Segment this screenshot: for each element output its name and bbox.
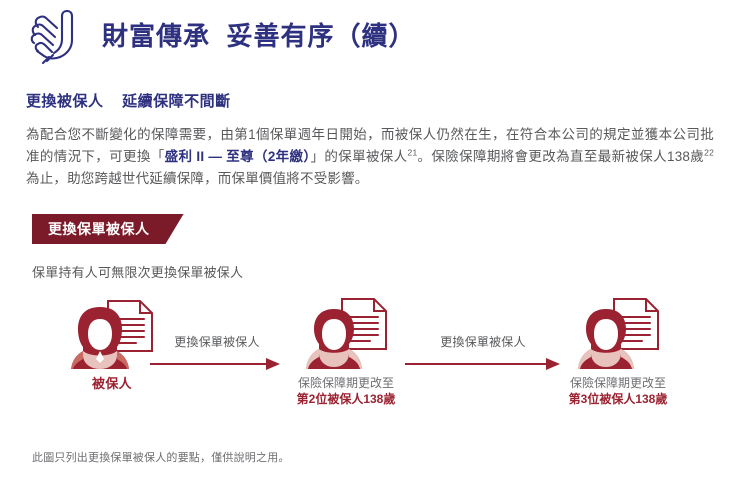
node-3-caption-line-2: 138歲 [635,392,667,406]
node-2-caption-emphasis: 第2位被保人 [297,392,364,406]
paragraph-part-3: 。保險保障期將會更改為直至最新被保人138歲 [417,149,704,164]
node-3-caption: 保險保障期更改至第3位被保人138歲 [528,375,708,407]
product-name: 盛利 II — 至尊（2年繳） [165,149,311,164]
node-3-caption-emphasis: 第3位被保人 [569,392,636,406]
footnote-ref-21: 21 [408,148,418,158]
section-subtitle: 更換被保人 延續保障不間斷 [26,90,740,111]
paragraph-part-2: 」的保單被保人 [311,149,408,164]
page-title: 財富傳承 妥善有序（續） [102,22,415,51]
paragraph-part-4: 為止，助您跨越世代延續保障，而保單價值將不受影響。 [26,171,369,186]
node-2-caption-line-1: 保險保障期更改至 [298,376,394,390]
footnote-ref-22: 22 [704,148,714,158]
section-banner-wrapper: 更換保單被保人 [32,214,740,244]
page-header: 財富傳承 妥善有序（續） [0,0,740,64]
node-2-caption: 保險保障期更改至第2位被保人138歲 [256,375,436,407]
diagram-lead-text: 保單持有人可無限次更換保單被保人 [32,262,740,281]
body-paragraph: 為配合您不斷變化的保障需要，由第1個保單週年日開始，而被保人仍然在生，在符合本公… [26,124,714,190]
section-banner: 更換保單被保人 [32,214,184,244]
node-2-caption-line-2: 138歲 [363,392,395,406]
node-3-caption-line-1: 保險保障期更改至 [570,376,666,390]
holding-hands-icon [24,7,86,65]
diagram-node-2: 保險保障期更改至第2位被保人138歲 [256,297,436,407]
diagram-node-3: 保險保障期更改至第3位被保人138歲 [528,297,708,407]
diagram-footnote: 此圖只列出更換保單被保人的要點，僅供說明之用。 [32,449,290,465]
male-person-with-document-icon [528,297,708,369]
replacement-flow-diagram: 被保人 更換保單被保人 [0,297,740,432]
